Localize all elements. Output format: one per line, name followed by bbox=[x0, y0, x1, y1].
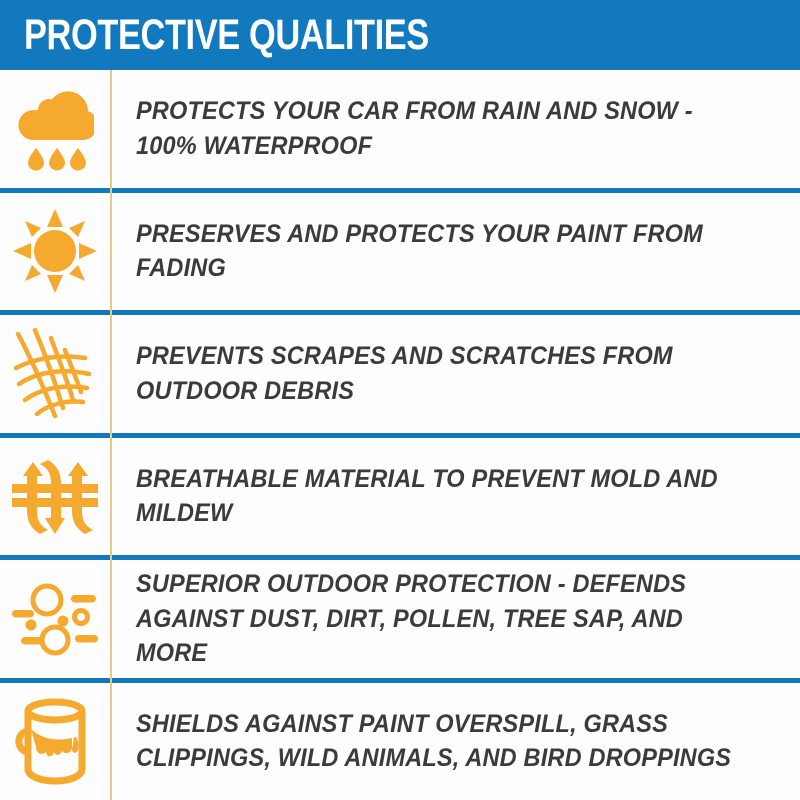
feature-icon-cell bbox=[0, 193, 110, 311]
feature-text-cell: BREATHABLE MATERIAL TO PREVENT MOLD AND … bbox=[112, 462, 800, 531]
feature-icon-cell bbox=[0, 560, 110, 678]
sun-icon bbox=[13, 209, 97, 293]
feature-text: SHIELDS AGAINST PAINT OVERSPILL, GRASS C… bbox=[136, 707, 743, 776]
feature-icon-cell bbox=[0, 438, 110, 556]
feature-text-cell: SHIELDS AGAINST PAINT OVERSPILL, GRASS C… bbox=[112, 707, 800, 776]
feature-text: PREVENTS SCRAPES AND SCRATCHES FROM OUTD… bbox=[136, 339, 743, 408]
feature-icon-cell bbox=[0, 70, 110, 188]
protective-qualities-infographic: PROTECTIVE QUALITIES PROTECTS YOUR CAR F… bbox=[0, 0, 800, 800]
feature-row: PRESERVES AND PROTECTS YOUR PAINT FROM F… bbox=[0, 193, 800, 316]
feature-row: SHIELDS AGAINST PAINT OVERSPILL, GRASS C… bbox=[0, 683, 800, 800]
feature-text: SUPERIOR OUTDOOR PROTECTION - DEFENDS AG… bbox=[136, 567, 743, 671]
feature-text: BREATHABLE MATERIAL TO PREVENT MOLD AND … bbox=[136, 462, 743, 531]
feature-text-cell: PREVENTS SCRAPES AND SCRATCHES FROM OUTD… bbox=[112, 339, 800, 408]
feature-text: PROTECTS YOUR CAR FROM RAIN AND SNOW - 1… bbox=[136, 94, 743, 163]
dust-particles-icon bbox=[9, 577, 101, 661]
feature-text-cell: PROTECTS YOUR CAR FROM RAIN AND SNOW - 1… bbox=[112, 94, 800, 163]
breathable-airflow-arrows-icon bbox=[10, 454, 100, 538]
feature-list: PROTECTS YOUR CAR FROM RAIN AND SNOW - 1… bbox=[0, 70, 800, 800]
page-title: PROTECTIVE QUALITIES bbox=[24, 14, 429, 57]
feature-row: BREATHABLE MATERIAL TO PREVENT MOLD AND … bbox=[0, 438, 800, 561]
feature-text-cell: PRESERVES AND PROTECTS YOUR PAINT FROM F… bbox=[112, 217, 800, 286]
feature-text-cell: SUPERIOR OUTDOOR PROTECTION - DEFENDS AG… bbox=[112, 567, 800, 671]
feature-row: PROTECTS YOUR CAR FROM RAIN AND SNOW - 1… bbox=[0, 70, 800, 193]
rain-cloud-icon bbox=[16, 86, 94, 172]
feature-text: PRESERVES AND PROTECTS YOUR PAINT FROM F… bbox=[136, 217, 743, 286]
feature-row: SUPERIOR OUTDOOR PROTECTION - DEFENDS AG… bbox=[0, 560, 800, 683]
feature-row: PREVENTS SCRAPES AND SCRATCHES FROM OUTD… bbox=[0, 315, 800, 438]
feature-icon-cell bbox=[0, 315, 110, 433]
scratch-mesh-icon bbox=[13, 328, 97, 420]
paint-bucket-icon bbox=[14, 697, 96, 785]
feature-icon-cell bbox=[0, 683, 110, 800]
header-bar: PROTECTIVE QUALITIES bbox=[0, 0, 800, 70]
